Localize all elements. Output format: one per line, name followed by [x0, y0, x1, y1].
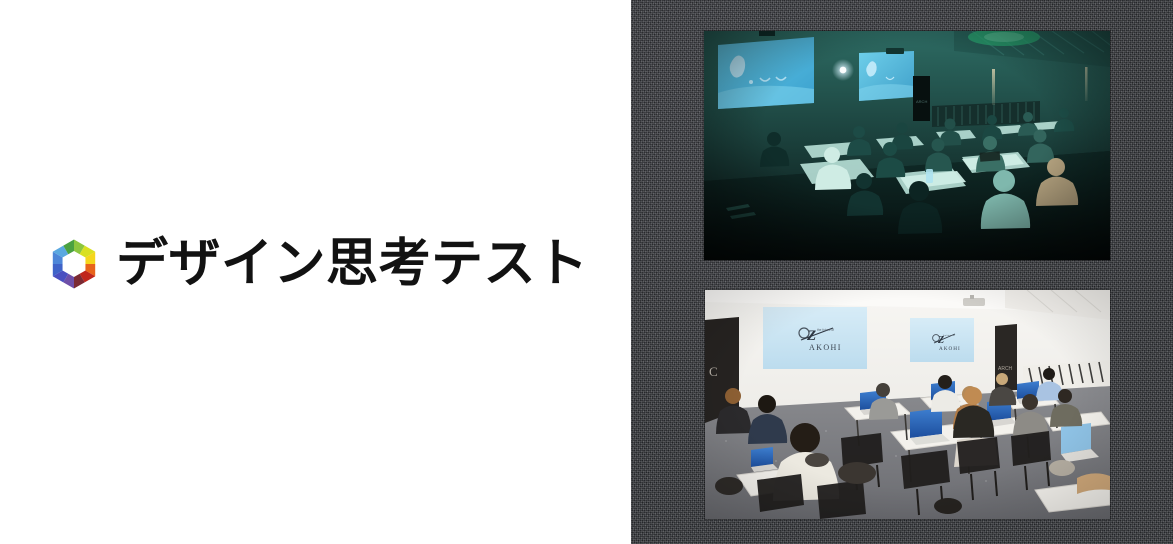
slide-root: デザイン思考テスト — [0, 0, 1173, 544]
photo-bright-classroom: C ARCH Z the future of AKOHI — [705, 290, 1110, 519]
left-title-panel: デザイン思考テスト — [0, 0, 631, 544]
page-title: デザイン思考テスト — [116, 238, 589, 290]
title-block: デザイン思考テスト — [48, 238, 589, 290]
photo-dark-seminar-room: ARCH — [704, 31, 1110, 260]
hexagon-ring-logo-icon — [48, 238, 100, 290]
right-photo-panel: ARCH — [631, 0, 1173, 544]
